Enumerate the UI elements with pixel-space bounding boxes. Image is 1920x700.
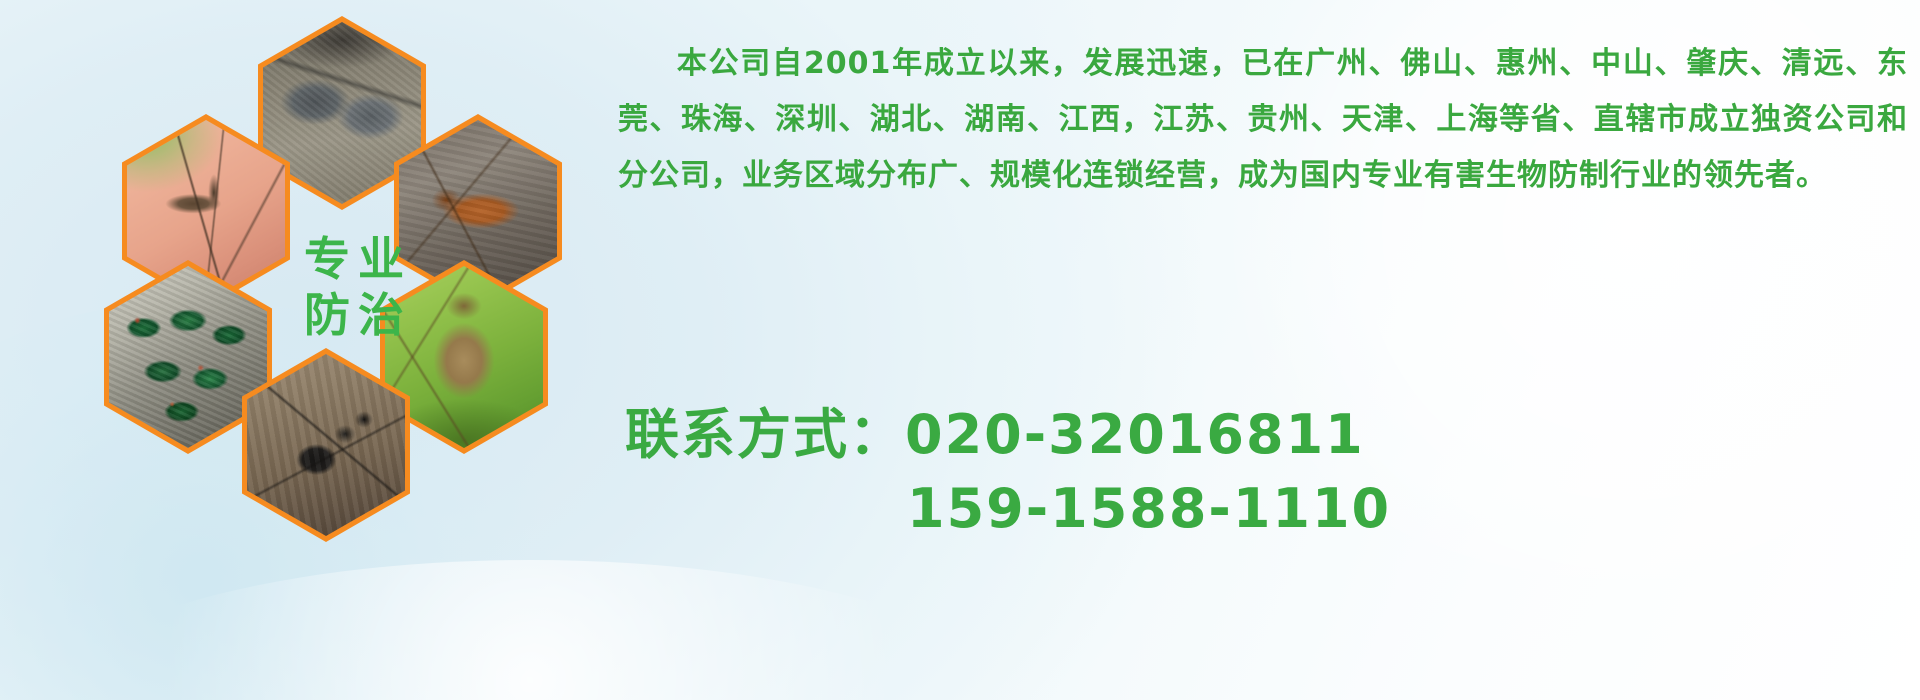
contact-block: 联系方式：020-32016811 159-1588-1110 [625,398,1685,546]
company-description-text: 本公司自2001年成立以来，发展迅速，已在广州、佛山、惠州、中山、肇庆、清远、东… [618,36,1908,204]
contact-line-primary[interactable]: 联系方式：020-32016811 [625,398,1685,472]
contact-line-secondary[interactable]: 159-1588-1110 [625,472,1685,546]
company-description-body: 本公司自2001年成立以来，发展迅速，已在广州、佛山、惠州、中山、肇庆、清远、东… [618,46,1908,193]
slogan-line-1: 专业 [296,231,412,287]
promo-banner: 专业 防治 本公司自2001年成立以来，发展迅速，已在广州、佛山、惠州、中山、肇… [0,0,1920,700]
light-bloom-bottom [40,560,1020,700]
company-description-block: 本公司自2001年成立以来，发展迅速，已在广州、佛山、惠州、中山、肇庆、清远、东… [618,36,1908,204]
hexagon-photo-collage: 专业 防治 [90,10,590,565]
slogan-line-2: 防治 [296,287,412,343]
